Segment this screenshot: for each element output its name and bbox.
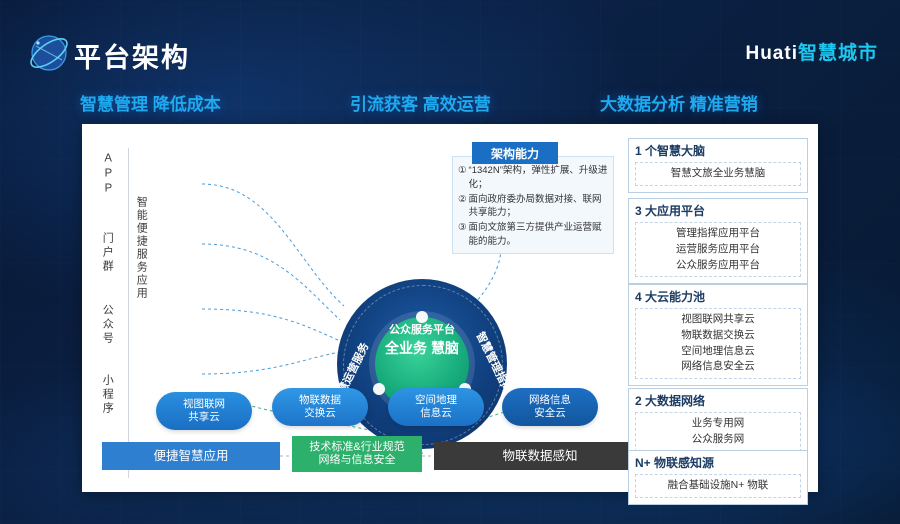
subtitle-2: 引流获客 高效运营 [350,90,491,115]
channel-official-account: 公众号 [100,304,113,346]
left-channel-column: ＡＰＰ 门户群 公众号 小程序 智能便捷服务应用 [92,134,164,482]
capability-item-1-num: ② [458,193,467,221]
cloud-0-line1: 视图联网 [183,398,225,411]
summary-box-0-body: 智慧文旅全业务慧脑 [635,162,801,186]
cloud-geo-info[interactable]: 空间地理信息云 [388,388,484,426]
architecture-panel: ＡＰＰ 门户群 公众号 小程序 智能便捷服务应用 全业务 慧脑 公众服务平台 智… [82,124,818,492]
bottom-bar-standards[interactable]: 技术标准&行业规范 网络与信息安全 [292,436,422,472]
summary-box-1-item-0: 管理指挥应用平台 [640,226,796,242]
subtitle-3: 大数据分析 精准营销 [600,90,758,115]
right-summary-column: 1 个智慧大脑 智慧文旅全业务慧脑 3 大应用平台 管理指挥应用平台 运营服务应… [628,138,806,478]
summary-box-brain: 1 个智慧大脑 智慧文旅全业务慧脑 [628,138,808,193]
summary-box-platforms: 3 大应用平台 管理指挥应用平台 运营服务应用平台 公众服务应用平台 [628,198,808,284]
capability-item-2-text: 面向文旅第三方提供产业运营赋能的能力。 [469,221,608,249]
cloud-2-line1: 空间地理 [415,394,457,407]
summary-box-1-body: 管理指挥应用平台 运营服务应用平台 公众服务应用平台 [635,222,801,277]
brand-main: Huati [745,43,798,64]
summary-box-2-item-3: 网络信息安全云 [640,359,796,375]
core-notch-bottom-left [373,383,385,395]
channel-group-label: 智能便捷服务应用 [134,196,147,300]
subtitle-1: 智慧管理 降低成本 [80,90,221,115]
summary-box-clouds: 4 大云能力池 视图联网共享云 物联数据交换云 空间地理信息云 网络信息安全云 [628,284,808,386]
brand-logo: Huati智慧城市 [745,38,878,65]
bottom-bar-applications[interactable]: 便捷智慧应用 [102,442,280,470]
cloud-iot-data[interactable]: 物联数据交换云 [272,388,368,426]
channel-portal: 门户群 [100,232,113,274]
summary-box-2-item-1: 物联数据交换云 [640,328,796,344]
summary-box-1-item-1: 运营服务应用平台 [640,242,796,258]
summary-box-networks: 2 大数据网络 业务专用网 公众服务网 [628,388,808,459]
cloud-video-network[interactable]: 视图联网共享云 [156,392,252,430]
globe-orbit-icon [22,26,76,80]
summary-box-1-item-2: 公众服务应用平台 [640,258,796,274]
summary-box-3-body: 业务专用网 公众服务网 [635,412,801,452]
summary-box-4-item-0: 融合基础设施N+ 物联 [640,478,796,494]
summary-box-2-body: 视图联网共享云 物联数据交换云 空间地理信息云 网络信息安全云 [635,308,801,379]
page-title: 平台架构 [74,36,190,75]
summary-box-2-item-0: 视图联网共享云 [640,312,796,328]
summary-box-3-item-0: 业务专用网 [640,416,796,432]
cloud-network-security[interactable]: 网络信息安全云 [502,388,598,426]
capability-item-2-num: ③ [458,221,467,249]
summary-box-3-head: 2 大数据网络 [629,389,807,412]
summary-box-4-body: 融合基础设施N+ 物联 [635,474,801,498]
left-divider [128,148,129,478]
summary-box-sensing: N+ 物联感知源 融合基础设施N+ 物联 [628,450,808,505]
cloud-1-line2: 交换云 [299,407,341,420]
cloud-3-line2: 安全云 [529,407,571,420]
summary-box-0-item-0: 智慧文旅全业务慧脑 [640,166,796,182]
bottom-bar-1-line2: 网络与信息安全 [319,454,396,467]
capability-card-list: ① “1342N”架构，弹性扩展、升级进化； ② 面向政府委办局数据对接、联网共… [458,164,608,250]
subtitle-row: 智慧管理 降低成本 引流获客 高效运营 大数据分析 精准营销 [0,90,900,118]
bottom-bar-1-line1: 技术标准&行业规范 [309,441,404,454]
capability-card-title: 架构能力 [472,142,558,164]
capability-item: ② 面向政府委办局数据对接、联网共享能力； [458,193,608,221]
summary-box-3-item-1: 公众服务网 [640,432,796,448]
capability-item-1-text: 面向政府委办局数据对接、联网共享能力； [469,193,608,221]
summary-box-2-item-2: 空间地理信息云 [640,344,796,360]
core-label-line1: 全业务 [385,340,427,356]
cloud-2-line2: 信息云 [415,407,457,420]
capability-item: ③ 面向文旅第三方提供产业运营赋能的能力。 [458,221,608,249]
bottom-bar-2-label: 物联数据感知 [502,449,577,463]
channel-app: ＡＰＰ [100,152,113,197]
capability-item-0-num: ① [458,164,467,192]
ring-label-public-service: 公众服务平台 [357,321,487,337]
bottom-bar-sensing[interactable]: 物联数据感知 [434,442,646,470]
capability-item: ① “1342N”架构，弹性扩展、升级进化； [458,164,608,192]
channel-mini-program: 小程序 [100,374,113,416]
core-label: 全业务 慧脑 [375,339,469,358]
summary-box-0-head: 1 个智慧大脑 [629,139,807,162]
core-label-line2: 慧脑 [431,340,459,356]
cloud-1-line1: 物联数据 [299,394,341,407]
summary-box-4-head: N+ 物联感知源 [629,451,807,474]
bottom-bar-0-label: 便捷智慧应用 [153,449,228,463]
summary-box-2-head: 4 大云能力池 [629,285,807,308]
summary-box-1-head: 3 大应用平台 [629,199,807,222]
cloud-0-line2: 共享云 [183,411,225,424]
cloud-3-line1: 网络信息 [529,394,571,407]
brand-accent: 智慧城市 [798,43,878,64]
capability-item-0-text: “1342N”架构，弹性扩展、升级进化； [469,164,608,192]
slide-root: 平台架构 Huati智慧城市 智慧管理 降低成本 引流获客 高效运营 大数据分析… [0,0,900,524]
